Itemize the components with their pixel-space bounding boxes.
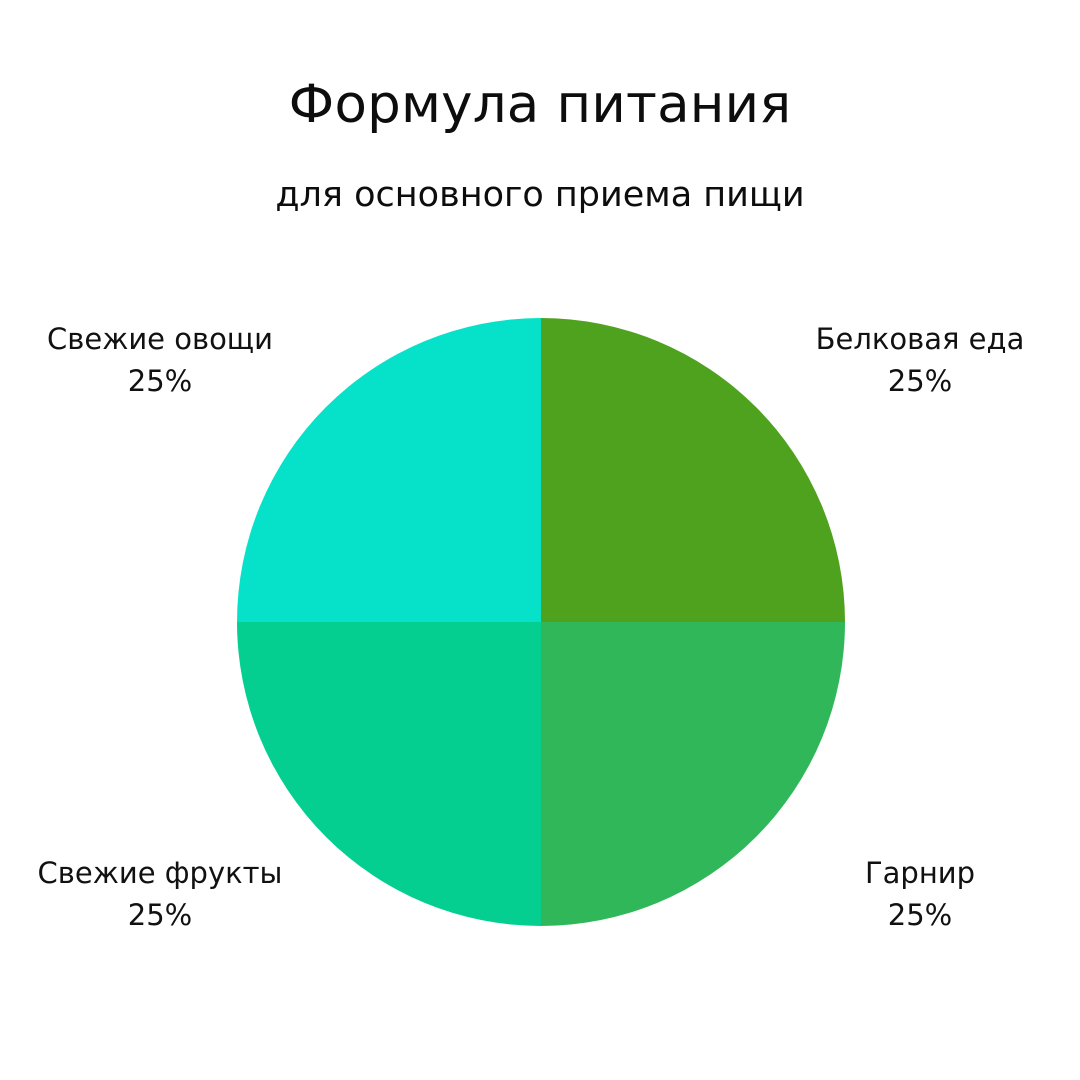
pie-label-protein-value: 25% xyxy=(760,360,1080,402)
pie-label-garnish-value: 25% xyxy=(760,894,1080,936)
pie-label-vegetables: Свежие овощи 25% xyxy=(0,318,320,402)
pie-label-protein: Белковая еда 25% xyxy=(760,318,1080,402)
pie-label-fruits-name: Свежие фрукты xyxy=(0,852,320,894)
pie-label-protein-name: Белковая еда xyxy=(760,318,1080,360)
page-subtitle: для основного приема пищи xyxy=(0,176,1080,215)
pie-chart-page: Формула питания для основного приема пищ… xyxy=(0,0,1080,1080)
pie-chart xyxy=(237,318,845,926)
pie-label-vegetables-name: Свежие овощи xyxy=(0,318,320,360)
pie-label-vegetables-value: 25% xyxy=(0,360,320,402)
page-title: Формула питания xyxy=(0,76,1080,134)
pie-chart-svg xyxy=(237,318,845,926)
pie-label-garnish-name: Гарнир xyxy=(760,852,1080,894)
pie-label-fruits: Свежие фрукты 25% xyxy=(0,852,320,936)
pie-label-fruits-value: 25% xyxy=(0,894,320,936)
pie-label-garnish: Гарнир 25% xyxy=(760,852,1080,936)
